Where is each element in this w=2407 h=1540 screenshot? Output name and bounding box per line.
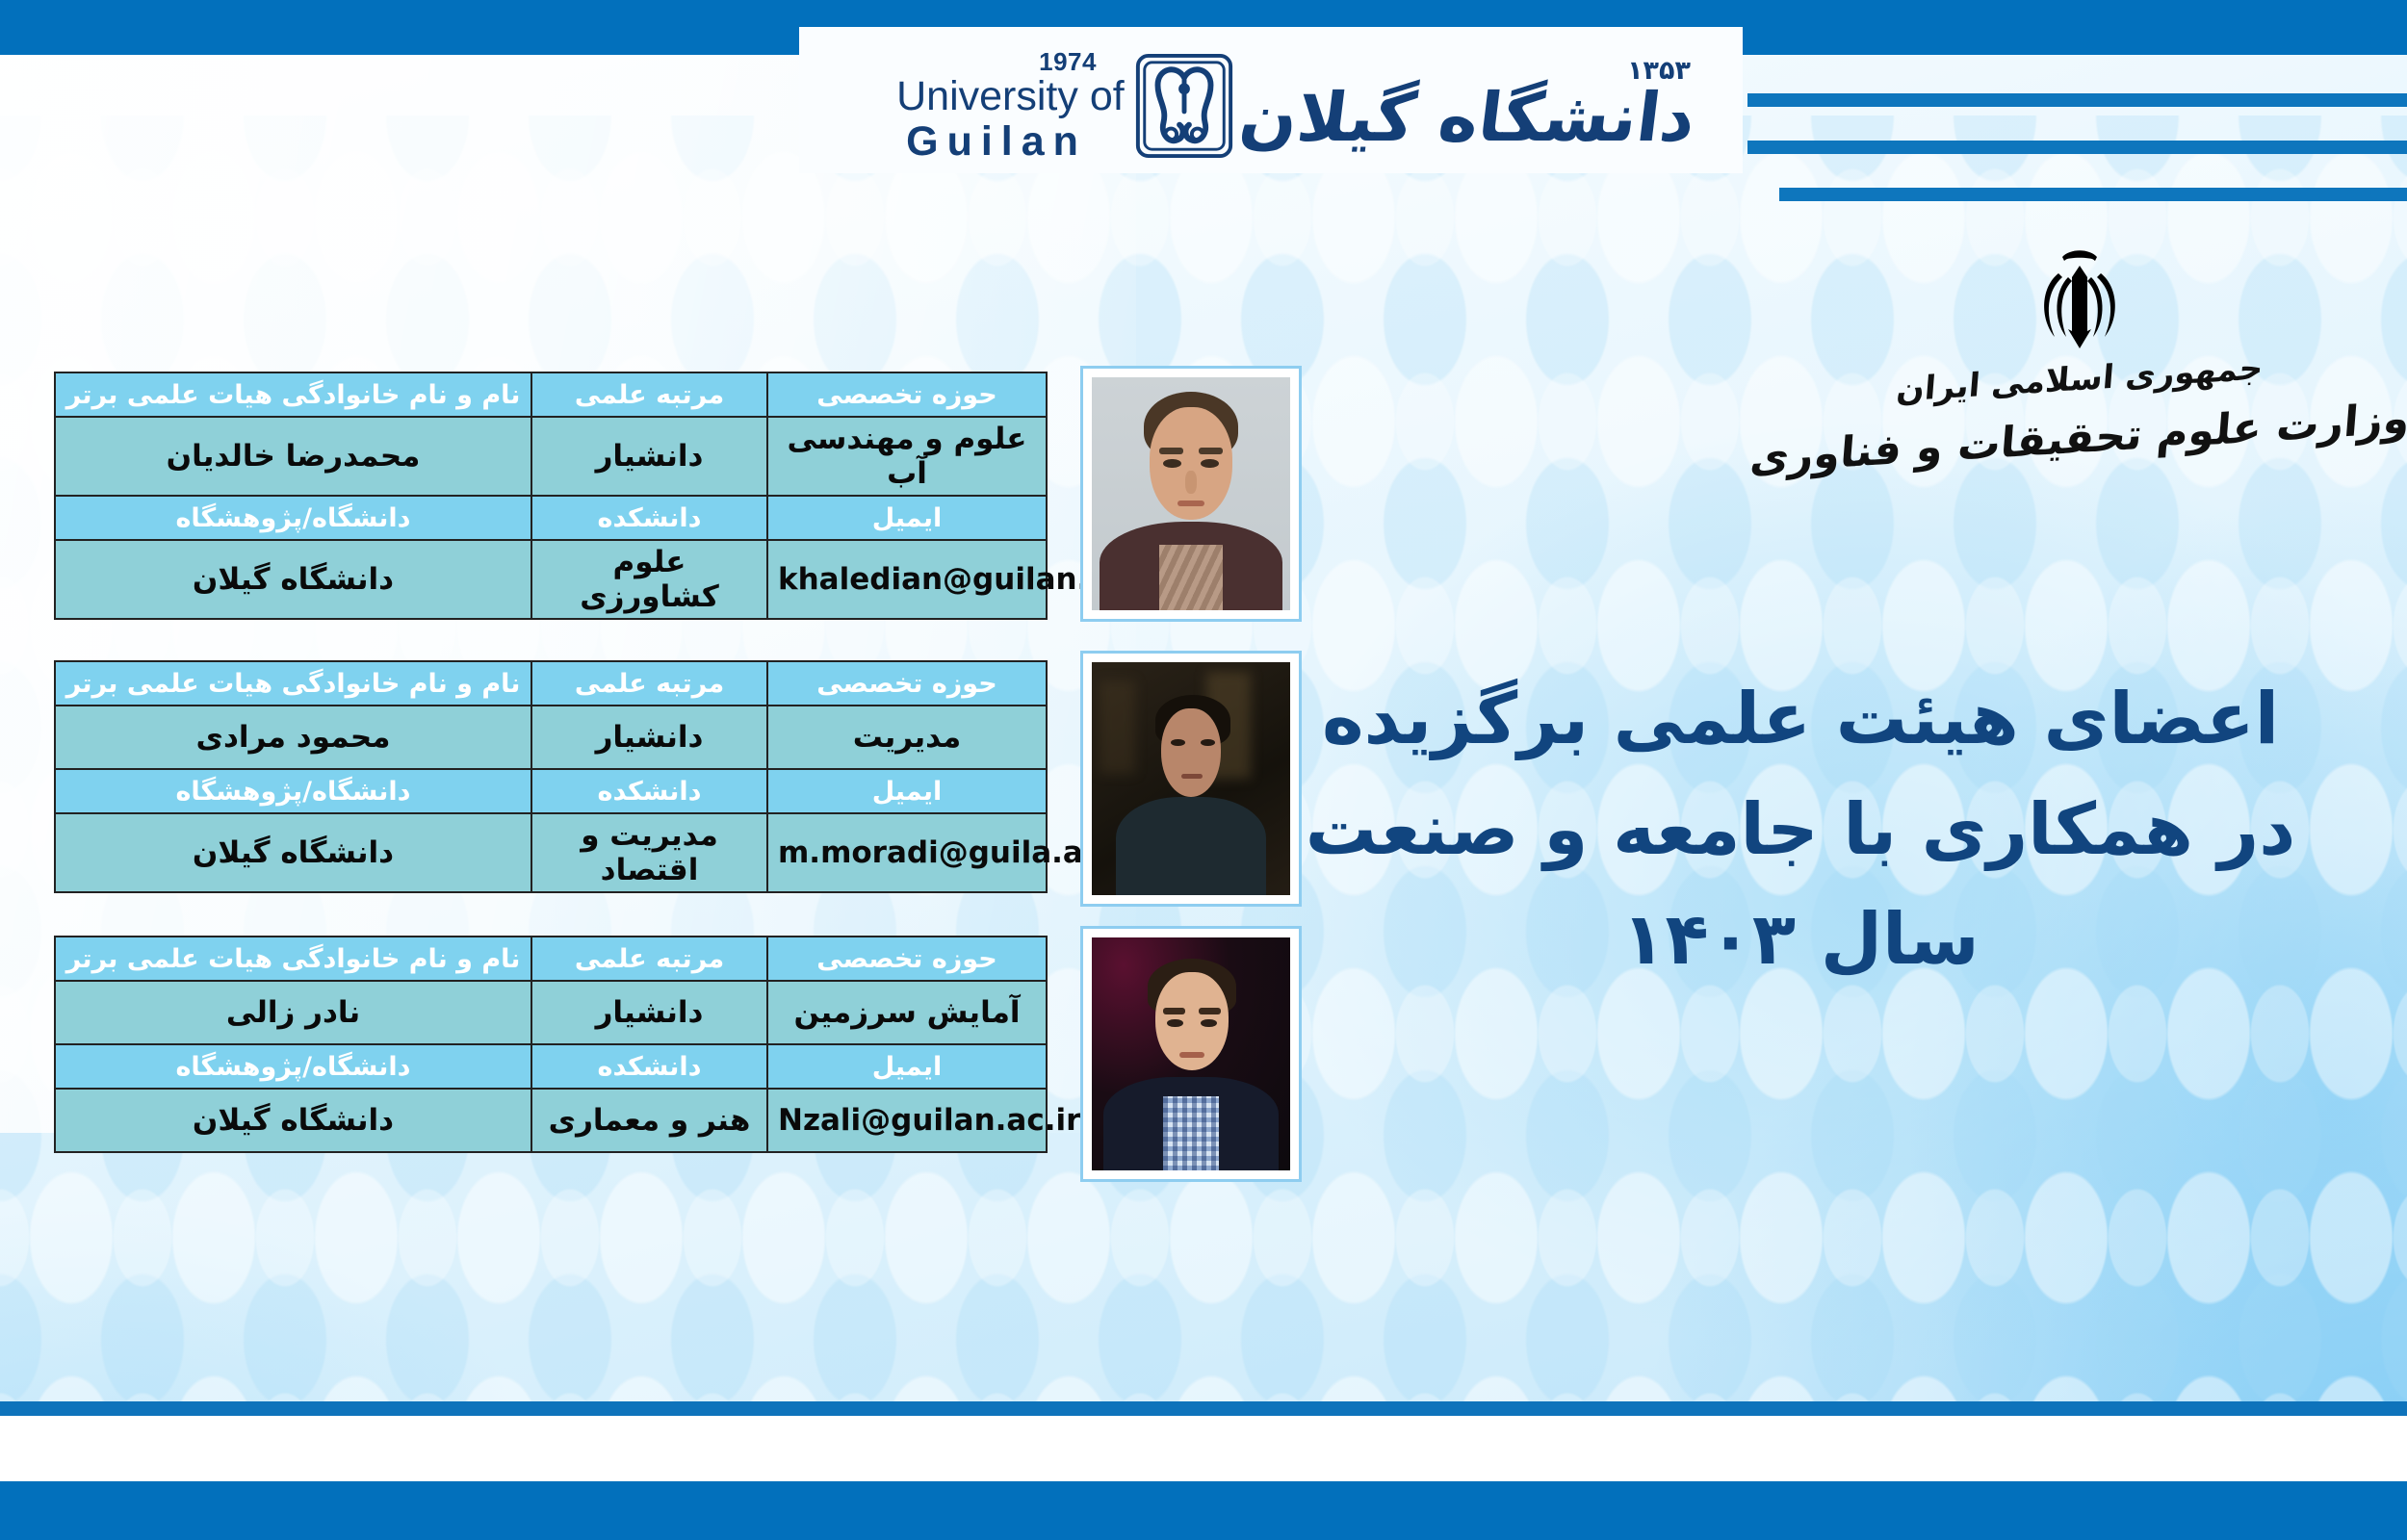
value-name: محمود مرادی [55, 706, 531, 769]
poster-canvas: 1974 University of Guilan ۱۳۵۳ دانشگاه گ… [0, 0, 2407, 1540]
table-row: m.moradi@guila.ac.ir مدیریت و اقتصاد دان… [55, 813, 1047, 892]
header-faculty: دانشکده [531, 496, 767, 540]
member-info-table: حوزه تخصصی مرتبه علمی نام و نام خانوادگی… [54, 660, 1048, 893]
accent-bar-3 [1779, 188, 2407, 201]
member-info-table: حوزه تخصصی مرتبه علمی نام و نام خانوادگی… [54, 372, 1048, 620]
header-specialty: حوزه تخصصی [767, 937, 1047, 981]
header-rank: مرتبه علمی [531, 372, 767, 417]
value-name: نادر زالی [55, 981, 531, 1044]
header-email: ایمیل [767, 769, 1047, 813]
value-rank: دانشیار [531, 981, 767, 1044]
value-rank: دانشیار [531, 417, 767, 496]
value-faculty: هنر و معماری [531, 1089, 767, 1152]
member-card-1: حوزه تخصصی مرتبه علمی نام و نام خانوادگی… [54, 372, 1048, 620]
table-row: آمایش سرزمین دانشیار نادر زالی [55, 981, 1047, 1044]
header-faculty: دانشکده [531, 769, 767, 813]
value-specialty: علوم و مهندسی آب [767, 417, 1047, 496]
value-name: محمدرضا خالدیان [55, 417, 531, 496]
university-logo: 1974 University of Guilan ۱۳۵۳ دانشگاه گ… [847, 46, 1695, 166]
header-institution: دانشگاه/پژوهشگاه [55, 769, 531, 813]
value-email[interactable]: Nzali@guilan.ac.ir [767, 1089, 1047, 1152]
portrait-photo-khaledian [1092, 377, 1290, 610]
university-name-persian: ۱۳۵۳ دانشگاه گیلان [1240, 56, 1695, 155]
table-row: حوزه تخصصی مرتبه علمی نام و نام خانوادگی… [55, 937, 1047, 981]
value-institution: دانشگاه گیلان [55, 813, 531, 892]
value-rank: دانشیار [531, 706, 767, 769]
table-row: Nzali@guilan.ac.ir هنر و معماری دانشگاه … [55, 1089, 1047, 1152]
table-row: حوزه تخصصی مرتبه علمی نام و نام خانوادگی… [55, 372, 1047, 417]
portrait-photo-moradi [1092, 662, 1290, 895]
table-row: علوم و مهندسی آب دانشیار محمدرضا خالدیان [55, 417, 1047, 496]
university-name-line2: Guilan [906, 121, 1087, 163]
header-specialty: حوزه تخصصی [767, 372, 1047, 417]
member-photo-2 [1080, 651, 1302, 907]
header-rank: مرتبه علمی [531, 661, 767, 706]
header-email: ایمیل [767, 1044, 1047, 1089]
table-row: حوزه تخصصی مرتبه علمی نام و نام خانوادگی… [55, 661, 1047, 706]
page-title-line3: سال ۱۴۰۳ [1281, 885, 2320, 995]
header-name: نام و نام خانوادگی هیات علمی برتر [55, 372, 531, 417]
portrait-photo-zali [1092, 937, 1290, 1170]
value-institution: دانشگاه گیلان [55, 1089, 531, 1152]
header-name: نام و نام خانوادگی هیات علمی برتر [55, 661, 531, 706]
member-card-2: حوزه تخصصی مرتبه علمی نام و نام خانوادگی… [54, 660, 1048, 893]
ministry-emblem-block: جمهوری اسلامی ایران وزارت علوم تحقیقات و… [1868, 248, 2291, 463]
header-name: نام و نام خانوادگی هیات علمی برتر [55, 937, 531, 981]
value-faculty: علوم کشاورزی [531, 540, 767, 619]
accent-bar-1 [1747, 93, 2407, 107]
bottom-blue-band [0, 1481, 2407, 1540]
university-name-line1: University of [896, 76, 1125, 117]
header-rank: مرتبه علمی [531, 937, 767, 981]
member-photo-1 [1080, 366, 1302, 622]
table-row: ایمیل دانشکده دانشگاه/پژوهشگاه [55, 1044, 1047, 1089]
table-row: ایمیل دانشکده دانشگاه/پژوهشگاه [55, 769, 1047, 813]
iran-national-emblem-icon [2020, 248, 2139, 356]
value-email[interactable]: m.moradi@guila.ac.ir [767, 813, 1047, 892]
guilan-university-emblem-icon [1134, 53, 1234, 159]
bottom-white-band [0, 1416, 2407, 1481]
page-title-line1: اعضای هیئت علمی برگزیده [1281, 664, 2320, 775]
member-photo-3 [1080, 926, 1302, 1182]
table-row: مدیریت دانشیار محمود مرادی [55, 706, 1047, 769]
value-institution: دانشگاه گیلان [55, 540, 531, 619]
table-row: ایمیل دانشکده دانشگاه/پژوهشگاه [55, 496, 1047, 540]
university-name-persian-text: دانشگاه گیلان [1235, 80, 1699, 155]
university-name-english: 1974 University of Guilan [896, 49, 1125, 163]
value-faculty: مدیریت و اقتصاد [531, 813, 767, 892]
header-institution: دانشگاه/پژوهشگاه [55, 1044, 531, 1089]
bottom-blue-rule [0, 1401, 2407, 1416]
member-card-3: حوزه تخصصی مرتبه علمی نام و نام خانوادگی… [54, 936, 1048, 1153]
header-specialty: حوزه تخصصی [767, 661, 1047, 706]
table-row: khaledian@guilan.ac.ir علوم کشاورزی دانش… [55, 540, 1047, 619]
header-faculty: دانشکده [531, 1044, 767, 1089]
university-founding-year-gregorian: 1974 [1039, 49, 1097, 74]
header-email: ایمیل [767, 496, 1047, 540]
ministry-line1-country: جمهوری اسلامی ایران [1895, 348, 2265, 409]
page-title: اعضای هیئت علمی برگزیده در همکاری با جام… [1281, 664, 2320, 995]
accent-bar-2 [1747, 141, 2407, 154]
member-info-table: حوزه تخصصی مرتبه علمی نام و نام خانوادگی… [54, 936, 1048, 1153]
header-institution: دانشگاه/پژوهشگاه [55, 496, 531, 540]
value-email[interactable]: khaledian@guilan.ac.ir [767, 540, 1047, 619]
value-specialty: مدیریت [767, 706, 1047, 769]
page-title-line2: در همکاری با جامعه و صنعت [1281, 775, 2320, 885]
value-specialty: آمایش سرزمین [767, 981, 1047, 1044]
